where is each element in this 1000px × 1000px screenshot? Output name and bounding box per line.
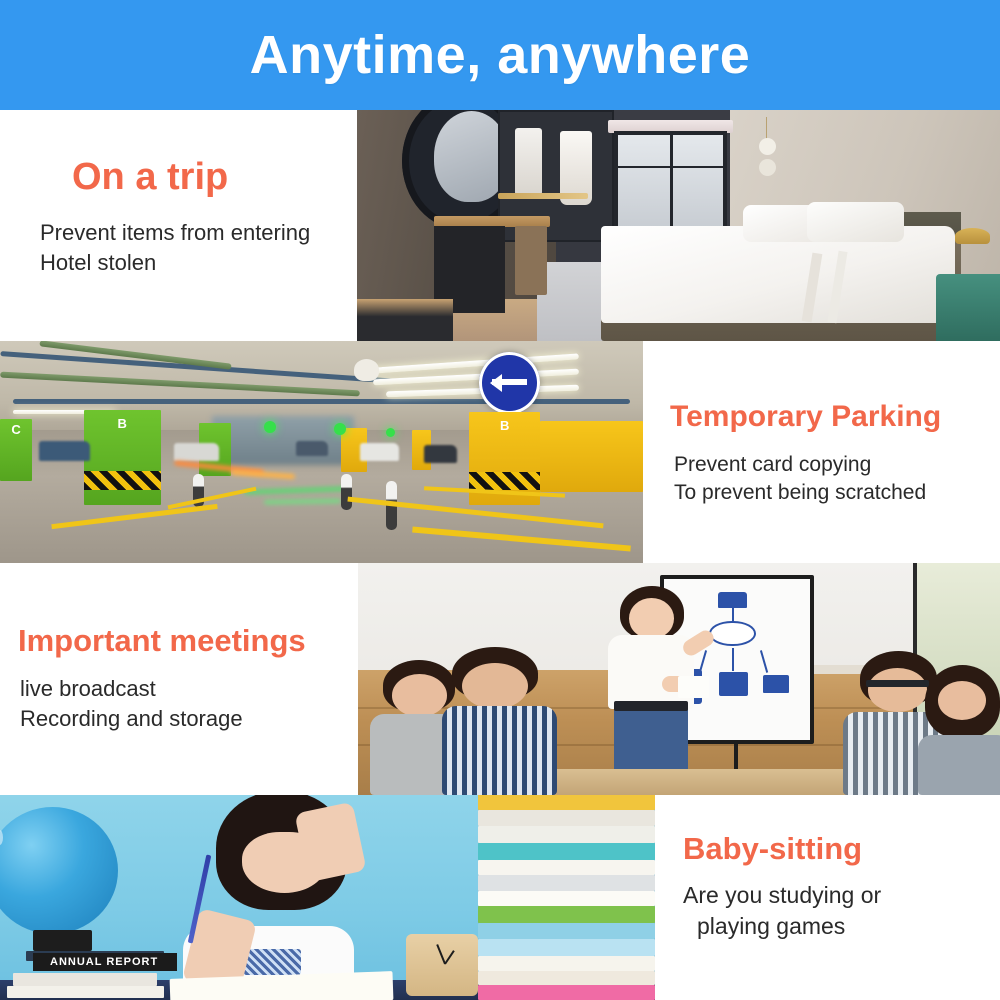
book	[478, 923, 655, 940]
book	[478, 891, 655, 906]
body-line-2: Recording and storage	[20, 706, 243, 731]
girl-studying-image: ANNUAL REPORT	[0, 795, 655, 1000]
security-camera-icon	[354, 359, 380, 381]
desk-chair	[515, 226, 547, 295]
book	[478, 875, 655, 892]
desk-clock-icon	[406, 934, 478, 996]
globe-landmass	[0, 830, 3, 845]
diagram-cloud-icon	[709, 621, 756, 647]
face	[938, 681, 986, 720]
diagram-connector	[760, 650, 768, 672]
book	[478, 810, 655, 827]
far-distance-blur	[212, 416, 353, 465]
dresser	[357, 299, 453, 341]
parked-car	[296, 441, 328, 457]
column-yellow-wall	[540, 421, 643, 492]
globe-stand	[33, 930, 92, 951]
diagram-connector	[732, 608, 734, 621]
attendee-person	[448, 647, 551, 795]
caption-temporary-parking: Temporary Parking Prevent card copying T…	[670, 401, 941, 508]
belt	[614, 701, 688, 711]
column-label: B	[84, 416, 161, 431]
body-line-1: Prevent items from entering	[40, 220, 310, 245]
book	[478, 826, 655, 843]
body-line-1: live broadcast	[20, 676, 156, 701]
pillow	[807, 202, 903, 241]
hotel-room-image	[357, 110, 1000, 341]
hazard-stripes	[84, 471, 161, 490]
section-title-temporary-parking: Temporary Parking	[670, 401, 941, 433]
presenter-person	[602, 586, 705, 790]
diagram-connector	[732, 648, 734, 671]
green-indicator-light	[264, 421, 276, 433]
body-line-2: playing games	[697, 911, 881, 943]
column-green-b: B	[84, 410, 161, 505]
section-title-baby-sitting: Baby-sitting	[683, 833, 881, 866]
attendee-person	[923, 665, 1000, 795]
book	[478, 971, 655, 986]
table-lamp-icon	[955, 228, 990, 244]
header-banner: Anytime, anywhere	[0, 0, 1000, 110]
book	[478, 843, 655, 860]
parked-car	[174, 443, 219, 461]
section-temporary-parking: B C B	[0, 341, 1000, 563]
book	[478, 956, 655, 971]
book	[478, 795, 655, 810]
window	[614, 131, 727, 235]
tall-book-stack	[478, 795, 655, 1000]
green-indicator-light	[386, 428, 395, 437]
face	[629, 598, 674, 639]
parking-garage-image: B C B	[0, 341, 643, 563]
section-baby-sitting: ANNUAL REPORT	[0, 795, 1000, 1000]
eyeglasses-icon	[866, 680, 930, 687]
caption-baby-sitting: Baby-sitting Are you studying or playing…	[683, 833, 881, 943]
face	[462, 663, 528, 709]
hazard-stripes	[469, 472, 540, 491]
section-important-meetings: Important meetings live broadcast Record…	[0, 563, 1000, 795]
parked-car	[424, 445, 456, 463]
bollard	[341, 474, 352, 510]
diagram-monitor-icon	[719, 672, 748, 696]
window-divider	[670, 135, 673, 231]
body-line-2: Hotel stolen	[40, 250, 156, 275]
clock-minute-hand	[436, 944, 446, 964]
book	[478, 939, 655, 956]
book	[478, 860, 655, 875]
book	[478, 906, 655, 923]
top	[918, 735, 1000, 795]
wall-sconce-icon	[759, 159, 776, 176]
book-title: ANNUAL REPORT	[33, 956, 158, 968]
face	[392, 674, 448, 717]
body-line-1: Prevent card copying	[674, 453, 871, 476]
parked-car	[39, 441, 90, 461]
parked-car	[360, 443, 399, 461]
face	[868, 668, 928, 711]
section-body-important-meetings: live broadcast Recording and storage	[20, 674, 306, 735]
section-on-a-trip: On a trip Prevent items from entering Ho…	[0, 110, 1000, 341]
body-line-1: Are you studying or	[683, 882, 881, 908]
section-body-temporary-parking: Prevent card copying To prevent being sc…	[674, 451, 941, 509]
paper-sheet	[678, 676, 709, 698]
diagram-laptop-icon	[718, 592, 747, 608]
column-label: B	[469, 418, 540, 433]
light-streak	[264, 498, 341, 504]
book	[13, 973, 157, 985]
section-title-on-a-trip: On a trip	[72, 158, 310, 198]
page-title: Anytime, anywhere	[250, 28, 751, 82]
body-line-2: To prevent being scratched	[674, 481, 926, 504]
book-annual-report: ANNUAL REPORT	[33, 953, 177, 971]
window-divider	[618, 166, 723, 168]
striped-shirt	[442, 706, 557, 795]
ceiling-pipe	[13, 399, 630, 404]
direction-sign-icon	[479, 352, 540, 414]
infographic-page: Anytime, anywhere	[0, 0, 1000, 1000]
section-title-important-meetings: Important meetings	[18, 625, 306, 658]
section-body-baby-sitting: Are you studying or playing games	[683, 880, 881, 943]
arrow-head	[490, 374, 502, 392]
book	[478, 985, 655, 1000]
clothes-rod	[498, 193, 588, 199]
bathrobe	[515, 128, 542, 197]
caption-on-a-trip: On a trip Prevent items from entering Ho…	[40, 158, 310, 279]
column-green-c: C	[0, 419, 32, 481]
book	[7, 986, 164, 998]
column-label: C	[0, 422, 32, 437]
caption-important-meetings: Important meetings live broadcast Record…	[18, 625, 306, 734]
meeting-room-image	[358, 563, 1000, 795]
meeting-table	[499, 769, 897, 795]
section-body-on-a-trip: Prevent items from entering Hotel stolen	[40, 218, 310, 279]
nightstand	[936, 274, 1000, 341]
diagram-laptop-icon	[763, 675, 789, 693]
